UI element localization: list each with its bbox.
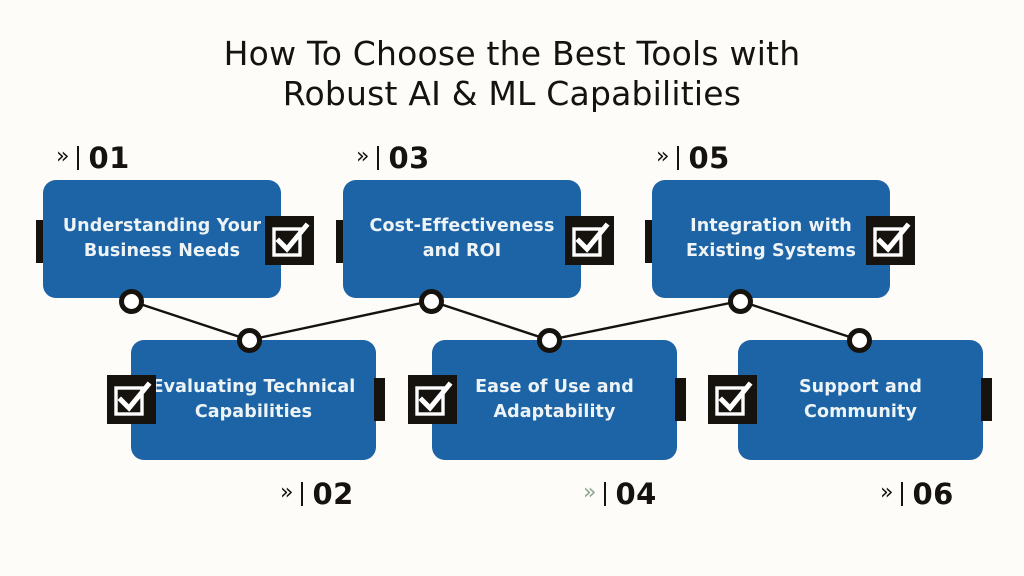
title-line-1: How To Choose the Best Tools with <box>0 34 1024 74</box>
step-card-label: Ease of Use and Adaptability <box>465 375 644 425</box>
label-divider <box>377 146 379 170</box>
chevron-double-right-icon: » <box>880 482 893 504</box>
chevron-double-right-icon: » <box>280 482 293 504</box>
step-number: 05 <box>688 144 729 173</box>
title-line-2: Robust AI & ML Capabilities <box>0 74 1024 114</box>
card-tab-bar-06 <box>981 378 992 421</box>
node-circle-01 <box>119 289 144 314</box>
label-divider <box>301 482 303 506</box>
chevron-double-right-icon: » <box>356 146 369 168</box>
step-label-01: » 01 <box>56 141 130 175</box>
chevron-double-right-icon: » <box>656 146 669 168</box>
step-card-04[interactable]: Ease of Use and Adaptability <box>432 340 677 460</box>
step-card-label: Cost-Effectiveness and ROI <box>360 214 565 264</box>
node-circle-06 <box>847 328 872 353</box>
step-number: 01 <box>88 144 129 173</box>
step-label-03: » 03 <box>356 141 430 175</box>
step-card-label: Evaluating Technical Capabilities <box>142 375 366 425</box>
chevron-double-right-icon: » <box>583 482 596 504</box>
checkbox-checked-icon-02 <box>107 375 156 424</box>
step-card-label: Integration with Existing Systems <box>676 214 866 264</box>
node-circle-04 <box>537 328 562 353</box>
step-card-01[interactable]: Understanding Your Business Needs <box>43 180 281 298</box>
label-divider <box>677 146 679 170</box>
step-card-02[interactable]: Evaluating Technical Capabilities <box>131 340 376 460</box>
step-card-05[interactable]: Integration with Existing Systems <box>652 180 890 298</box>
step-number: 03 <box>388 144 429 173</box>
chevron-double-right-icon: » <box>56 146 69 168</box>
node-circle-05 <box>728 289 753 314</box>
checkbox-checked-icon-06 <box>708 375 757 424</box>
card-tab-bar-04 <box>675 378 686 421</box>
step-card-label: Support and Community <box>789 375 932 425</box>
step-label-02: » 02 <box>280 477 354 511</box>
step-label-05: » 05 <box>656 141 730 175</box>
label-divider <box>604 482 606 506</box>
label-divider <box>901 482 903 506</box>
step-label-06: » 06 <box>880 477 954 511</box>
card-tab-bar-02 <box>374 378 385 421</box>
step-card-06[interactable]: Support and Community <box>738 340 983 460</box>
page-title: How To Choose the Best Tools with Robust… <box>0 34 1024 114</box>
step-card-label: Understanding Your Business Needs <box>53 214 271 264</box>
checkbox-checked-icon-05 <box>866 216 915 265</box>
step-number: 06 <box>912 480 953 509</box>
infographic-canvas: How To Choose the Best Tools with Robust… <box>0 0 1024 576</box>
checkbox-checked-icon-01 <box>265 216 314 265</box>
checkbox-checked-icon-03 <box>565 216 614 265</box>
checkbox-checked-icon-04 <box>408 375 457 424</box>
node-circle-03 <box>419 289 444 314</box>
node-circle-02 <box>237 328 262 353</box>
step-number: 02 <box>312 480 353 509</box>
step-label-04: » 04 <box>583 477 657 511</box>
step-number: 04 <box>615 480 656 509</box>
label-divider <box>77 146 79 170</box>
step-card-03[interactable]: Cost-Effectiveness and ROI <box>343 180 581 298</box>
